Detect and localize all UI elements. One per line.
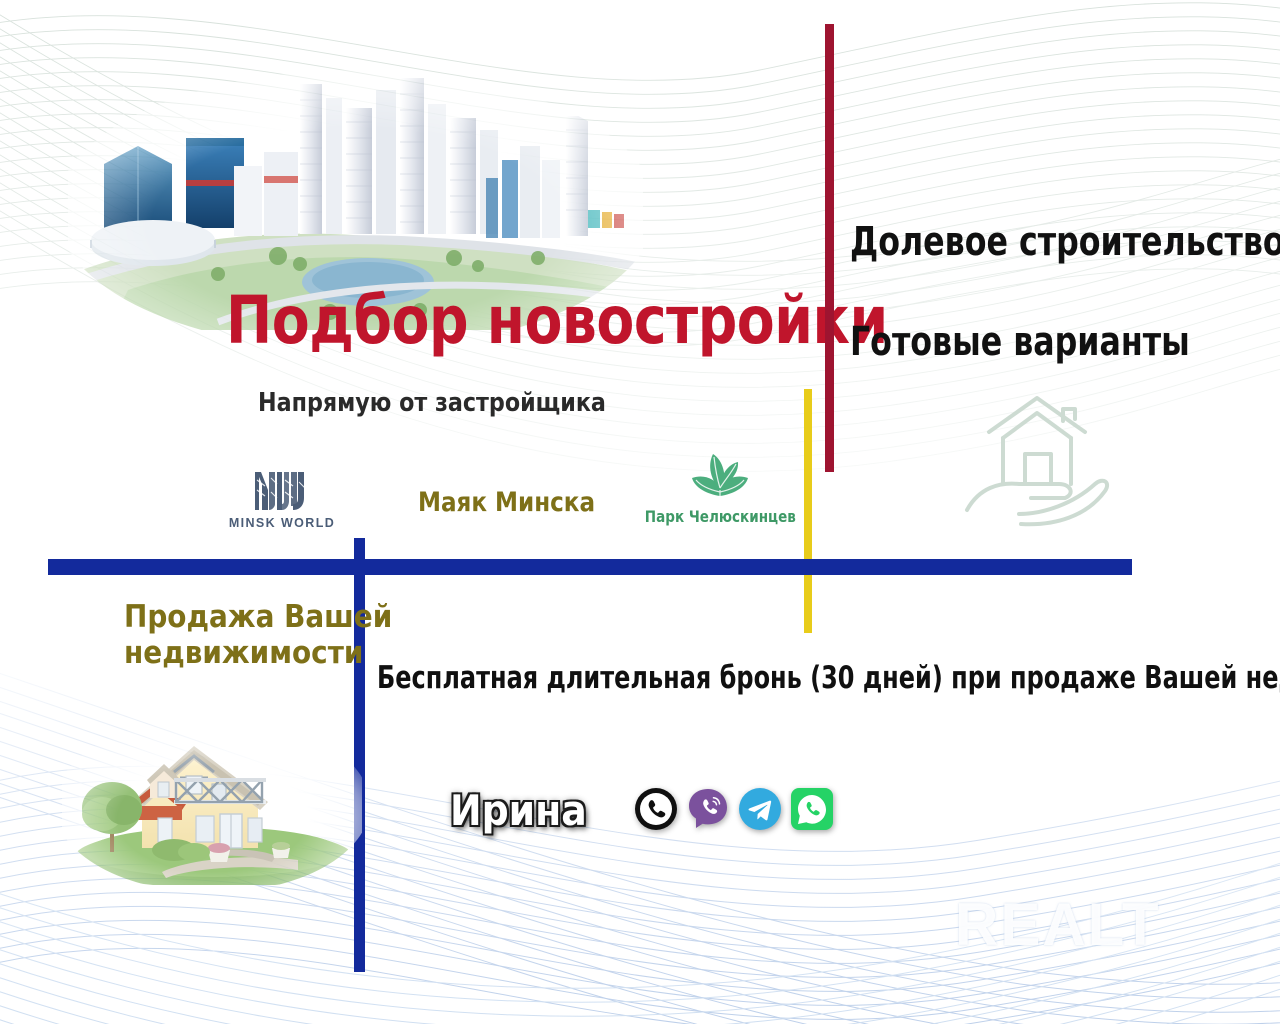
- agent-name: Ирина: [450, 786, 587, 835]
- sell-your-property-heading: Продажа Вашей недвижимости: [124, 600, 354, 671]
- promo-free-reservation-text: Бесплатная длительная бронь (30 дней) пр…: [377, 660, 1280, 696]
- logo-park-chelyuskintsev: Парк Челюскинцев: [640, 450, 800, 526]
- divider-blue-horizontal: [48, 559, 1132, 575]
- cottage-photo: [62, 700, 362, 885]
- viber-icon[interactable]: [686, 787, 730, 831]
- page-title: Подбор новостройки: [226, 288, 888, 354]
- leaf-icon: [689, 450, 751, 506]
- heading-ready-options: Готовые варианты: [850, 322, 1190, 362]
- heading-shared-construction: Долевое строительство: [850, 222, 1280, 262]
- minsk-world-monogram-icon: [251, 468, 313, 512]
- logo-mayak-minska: Маяк Минска: [418, 487, 595, 518]
- page-subtitle: Напрямую от застройщика: [258, 388, 606, 418]
- divider-yellow-vertical: [804, 389, 812, 633]
- divider-red-vertical: [825, 24, 834, 472]
- logo-park-label: Парк Челюскинцев: [645, 507, 795, 526]
- phone-icon[interactable]: [634, 787, 678, 831]
- whatsapp-icon[interactable]: [790, 787, 834, 831]
- realt-watermark: REALT: [955, 890, 1161, 959]
- sell-heading-line-1: Продажа Вашей: [124, 600, 354, 636]
- telegram-icon[interactable]: [738, 787, 782, 831]
- logo-minsk-world: MINSK WORLD: [222, 468, 342, 530]
- logo-minsk-world-label: MINSK WORLD: [222, 516, 342, 530]
- sell-heading-line-2: недвижимости: [124, 636, 354, 672]
- advertisement-banner: REALT: [0, 0, 1280, 1024]
- contact-icons: [634, 787, 834, 831]
- house-in-hand-icon: [955, 392, 1120, 527]
